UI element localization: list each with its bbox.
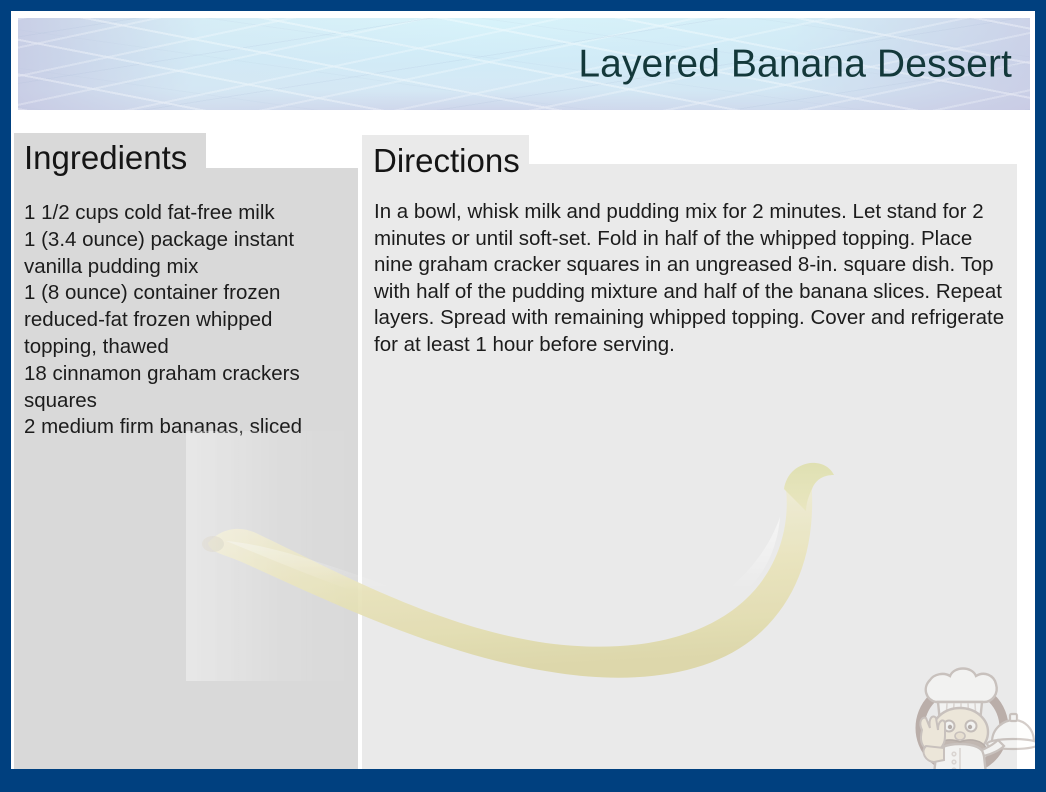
directions-text: In a bowl, whisk milk and pudding mix fo… <box>374 199 1008 358</box>
recipe-slide: Layered Banana Dessert 1 1/2 cups cold f… <box>0 0 1046 792</box>
ingredient-item: 1 (3.4 ounce) package instant vanilla pu… <box>24 227 350 281</box>
directions-heading: Directions <box>362 135 529 181</box>
ingredient-item: 18 cinnamon graham crackers squares <box>24 361 350 415</box>
ingredient-item: 1 1/2 cups cold fat-free milk <box>24 200 350 227</box>
directions-panel: In a bowl, whisk milk and pudding mix fo… <box>362 164 1017 769</box>
ingredients-list: 1 1/2 cups cold fat-free milk 1 (3.4 oun… <box>24 200 350 441</box>
ingredient-item: 2 medium firm bananas, sliced <box>24 414 350 441</box>
slide-page: Layered Banana Dessert 1 1/2 cups cold f… <box>11 11 1035 769</box>
header-banner: Layered Banana Dessert <box>18 18 1030 110</box>
page-title: Layered Banana Dessert <box>578 45 1012 84</box>
ingredients-panel: 1 1/2 cups cold fat-free milk 1 (3.4 oun… <box>14 168 358 769</box>
ingredients-heading: Ingredients <box>14 133 206 177</box>
ingredient-item: 1 (8 ounce) container frozen reduced-fat… <box>24 280 350 360</box>
